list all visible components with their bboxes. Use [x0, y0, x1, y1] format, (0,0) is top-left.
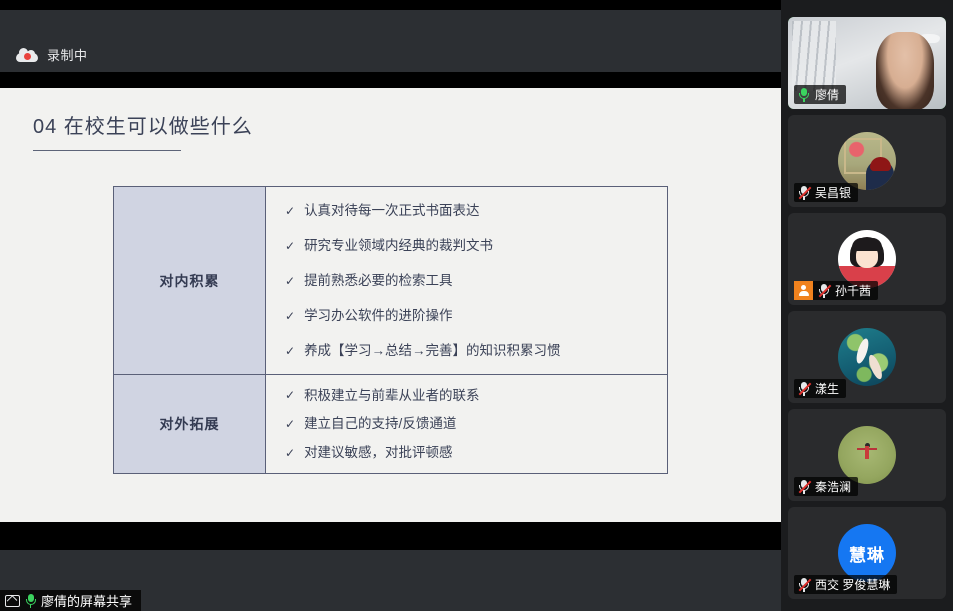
participant-name: 秦浩澜	[815, 478, 851, 495]
list-item: ✓ 认真对待每一次正式书面表达	[266, 193, 667, 228]
participant-name: 廖倩	[815, 86, 839, 103]
row-label-internal: 对内积累	[114, 187, 266, 374]
participant-name-bar: 漾生	[794, 379, 846, 398]
list-item-text: 学习办公软件的进阶操作	[304, 309, 453, 323]
participant-name: 漾生	[815, 380, 839, 397]
avatar	[838, 132, 896, 190]
list-item-text: 认真对待每一次正式书面表达	[304, 204, 480, 218]
check-icon: ✓	[285, 447, 295, 459]
microphone-muted-icon	[798, 578, 810, 592]
content-table: 对内积累 ✓ 认真对待每一次正式书面表达 ✓ 研究专业领域内经典的裁判文书 ✓	[113, 186, 668, 474]
list-item-text: 积极建立与前辈从业者的联系	[304, 389, 480, 403]
check-icon: ✓	[285, 345, 295, 357]
list-item: ✓ 对建议敏感，对批评顿感	[266, 438, 667, 467]
microphone-muted-icon	[798, 382, 810, 396]
microphone-muted-icon	[818, 284, 830, 298]
row-label-external: 对外拓展	[114, 375, 266, 473]
share-status-bar[interactable]: 廖倩的屏幕共享	[0, 590, 141, 611]
participant-tile-yangsheng[interactable]: 漾生	[788, 311, 946, 403]
avatar	[838, 230, 896, 288]
check-icon: ✓	[285, 418, 295, 430]
presentation-slide: 04 在校生可以做些什么 对内积累 ✓ 认真对待每一次正式书面表达 ✓ 研究专业…	[0, 88, 781, 522]
check-icon: ✓	[285, 205, 295, 217]
letterbox-top	[0, 72, 781, 88]
list-item: ✓ 建立自己的支持/反馈通道	[266, 410, 667, 439]
avatar-initials: 慧琳	[838, 524, 896, 582]
list-item: ✓ 学习办公软件的进阶操作	[266, 298, 667, 333]
check-icon: ✓	[285, 389, 295, 401]
row-content-external: ✓ 积极建立与前辈从业者的联系 ✓ 建立自己的支持/反馈通道 ✓ 对建议敏感，对…	[266, 375, 667, 473]
share-status-label: 廖倩的屏幕共享	[41, 591, 132, 610]
shared-screen-region: 录制中 04 在校生可以做些什么 对内积累 ✓ 认真对待每一次正式书面表达	[0, 0, 781, 611]
participant-name-bar: 秦浩澜	[794, 477, 858, 496]
avatar	[838, 328, 896, 386]
participant-name-bar: 孙千茜	[794, 281, 878, 300]
screen-share-icon	[5, 595, 20, 607]
letterbox-bottom	[0, 522, 781, 550]
participant-tile-sunqianqian[interactable]: 孙千茜	[788, 213, 946, 305]
table-row: 对外拓展 ✓ 积极建立与前辈从业者的联系 ✓ 建立自己的支持/反馈通道 ✓ 对建	[114, 374, 667, 473]
participant-name: 孙千茜	[835, 282, 871, 299]
list-item-text: 建立自己的支持/反馈通道	[304, 417, 456, 431]
participant-tile-liaoqian[interactable]: 廖倩	[788, 17, 946, 109]
list-item-text: 养成【学习→总结→完善】的知识积累习惯	[304, 344, 561, 358]
microphone-on-icon	[25, 594, 36, 608]
microphone-on-icon	[798, 88, 810, 102]
participant-name: 西交 罗俊慧琳	[815, 576, 890, 593]
list-item: ✓ 养成【学习→总结→完善】的知识积累习惯	[266, 333, 667, 368]
participant-name-bar: 西交 罗俊慧琳	[794, 575, 897, 594]
check-icon: ✓	[285, 310, 295, 322]
slide-title: 04 在校生可以做些什么	[33, 110, 253, 139]
participants-panel[interactable]: 廖倩 吴昌银	[781, 0, 953, 611]
participant-name: 吴昌银	[815, 184, 851, 201]
microphone-muted-icon	[798, 480, 810, 494]
row-content-internal: ✓ 认真对待每一次正式书面表达 ✓ 研究专业领域内经典的裁判文书 ✓ 提前熟悉必…	[266, 187, 667, 374]
avatar	[838, 426, 896, 484]
list-item: ✓ 研究专业领域内经典的裁判文书	[266, 228, 667, 263]
microphone-muted-icon	[798, 186, 810, 200]
recording-label: 录制中	[47, 45, 88, 64]
participant-tile-luojunhuilin[interactable]: 慧琳 西交 罗俊慧琳	[788, 507, 946, 599]
host-person-icon	[794, 281, 813, 300]
recording-bar: 录制中	[0, 10, 781, 72]
check-icon: ✓	[285, 240, 295, 252]
participant-name-bar: 吴昌银	[794, 183, 858, 202]
list-item-text: 研究专业领域内经典的裁判文书	[304, 239, 493, 253]
cloud-recording-icon	[16, 48, 38, 62]
slide-title-underline	[33, 150, 181, 151]
list-item-text: 提前熟悉必要的检索工具	[304, 274, 453, 288]
list-item-text: 对建议敏感，对批评顿感	[304, 446, 453, 460]
participant-tile-wuchangyin[interactable]: 吴昌银	[788, 115, 946, 207]
participant-name-bar: 廖倩	[794, 85, 846, 104]
list-item: ✓ 积极建立与前辈从业者的联系	[266, 381, 667, 410]
check-icon: ✓	[285, 275, 295, 287]
recording-indicator[interactable]: 录制中	[0, 45, 88, 72]
list-item: ✓ 提前熟悉必要的检索工具	[266, 263, 667, 298]
table-row: 对内积累 ✓ 认真对待每一次正式书面表达 ✓ 研究专业领域内经典的裁判文书 ✓	[114, 187, 667, 374]
participant-tile-qinhaolan[interactable]: 秦浩澜	[788, 409, 946, 501]
meeting-window: 录制中 04 在校生可以做些什么 对内积累 ✓ 认真对待每一次正式书面表达	[0, 0, 953, 611]
